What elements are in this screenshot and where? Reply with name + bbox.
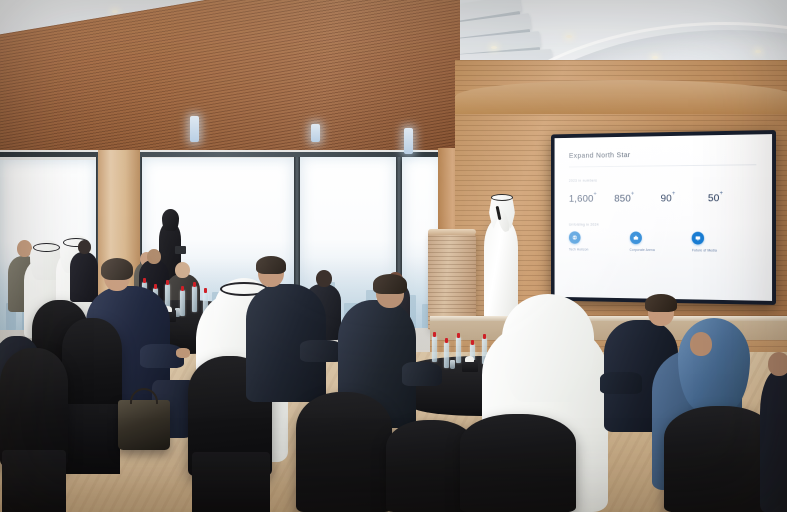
wall-sconce [404,128,413,154]
downlight [112,10,118,13]
leather-bag [118,400,170,450]
slide-stat: 1,600+ [569,189,614,206]
forearm [600,372,642,394]
drinking-glass [450,360,455,369]
slide-stat: 90+ [661,188,708,206]
slide-stat-suffix: + [672,191,675,197]
downlight [652,56,658,59]
wall-sconce [190,116,199,142]
wall-sconce [311,124,320,142]
suit-jacket [760,370,787,512]
head [78,240,91,254]
chair-skirt [2,450,66,512]
banquet-chair [460,414,576,512]
stage-wall-cornice [455,80,787,114]
slide-title: Expand North Star [569,148,756,160]
hand [176,348,190,358]
hair [373,274,407,294]
globe-icon [569,231,581,243]
conference-photo: Expand North Star 2023 in numbers 1,600+… [0,0,787,512]
slide-stat: 850+ [614,189,660,207]
ghutra [502,294,594,402]
chair-skirt [64,404,120,474]
forearm [402,362,442,386]
window-head-rail [0,152,445,157]
slide-track-label: Future of Media [692,248,756,252]
head [316,270,332,287]
slide-stat-value: 1,600 [569,193,594,205]
water-bottle [444,342,449,368]
agal [33,243,60,252]
slide-track-row: Tech Horizon Corporate Arena Future of M… [569,231,756,253]
slide-track: Tech Horizon [569,231,630,252]
headscarf [678,318,750,410]
banquet-chair [296,392,392,512]
water-bottle [180,290,185,316]
downlight [755,50,761,53]
slide-track-label: Corporate Arena [630,248,692,252]
banquet-chair [0,348,68,466]
monitor-icon [692,232,704,245]
water-bottle [432,336,437,362]
head [147,249,161,264]
head [768,352,787,376]
tissue-box [462,360,478,372]
slide-stat-suffix: + [720,191,723,197]
slide: Expand North Star 2023 in numbers 1,600+… [555,134,772,301]
presenter-agal [491,194,513,201]
slide-track-label: Tech Horizon [569,248,630,252]
chair-skirt [192,452,270,512]
slide-stat-value: 50 [708,192,720,204]
slide-stat-row: 1,600+ 850+ 90+ 50+ [569,188,756,206]
downlight [491,46,497,49]
hair [645,294,677,312]
downlight [566,35,572,38]
stage-edge [430,316,787,321]
hair [256,256,286,274]
slide-stat-suffix: + [631,192,634,198]
slide-divider [569,164,756,167]
tablet-icon [175,246,186,254]
slide-track: Corporate Arena [630,232,692,253]
water-bottle [456,337,461,363]
water-bottle [192,286,197,312]
headscarf [162,209,179,231]
head [175,262,190,278]
presentation-screen[interactable]: Expand North Star 2023 in numbers 1,600+… [551,130,776,305]
slide-stat-suffix: + [594,192,597,198]
jacket [70,252,98,302]
slide-tracks-kicker: Unfolding in 2024 [569,223,756,227]
hair [101,258,133,280]
briefcase-icon [630,232,642,245]
slide-stat-value: 850 [614,193,631,205]
slide-track: Future of Media [692,232,756,253]
slide-stats-kicker: 2023 in numbers [569,177,756,183]
lectern-top [428,229,476,235]
slide-stat: 50+ [708,188,756,206]
slide-stat-value: 90 [661,193,672,205]
face [690,332,712,356]
